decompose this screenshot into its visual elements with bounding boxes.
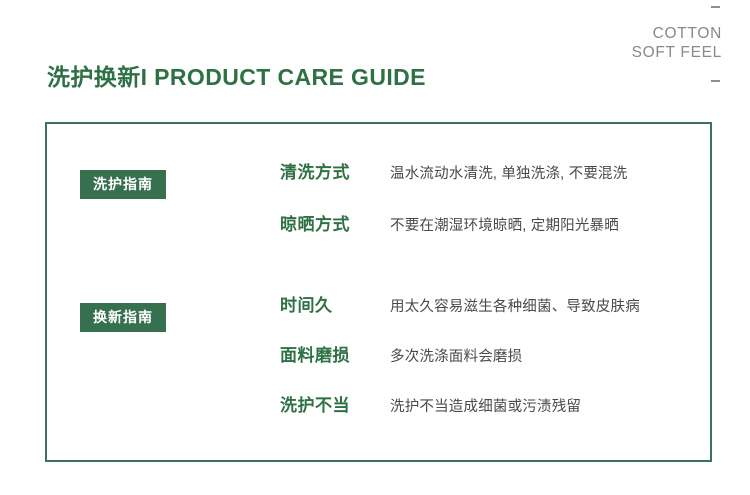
dash-icon-bottom	[711, 80, 720, 82]
care-row-description: 洗护不当造成细菌或污渍残留	[390, 395, 581, 416]
care-row: 晾晒方式 不要在潮湿环境晾晒, 定期阳光暴晒	[280, 210, 702, 262]
section-badge-washing-care: 洗护指南	[80, 170, 166, 199]
care-row: 洗护不当 洗护不当造成细菌或污渍残留	[280, 391, 702, 441]
care-row: 面料磨损 多次洗涤面料会磨损	[280, 341, 702, 391]
section-rows-washing-care: 清洗方式 温水流动水清洗, 单独洗涤, 不要混洗 晾晒方式 不要在潮湿环境晾晒,…	[280, 158, 702, 262]
care-row-description: 用太久容易滋生各种细菌、导致皮肤病	[390, 295, 640, 316]
care-row-label: 洗护不当	[280, 391, 390, 416]
brand-tagline-block: COTTON SOFT FEEL	[592, 6, 722, 82]
care-row-label: 面料磨损	[280, 341, 390, 366]
dash-icon-top	[711, 6, 720, 8]
brand-line-cotton: COTTON	[592, 24, 722, 43]
care-row-description: 温水流动水清洗, 单独洗涤, 不要混洗	[390, 162, 627, 183]
care-guide-box: 洗护指南 清洗方式 温水流动水清洗, 单独洗涤, 不要混洗 晾晒方式 不要在潮湿…	[45, 122, 712, 462]
section-rows-replacement-guide: 时间久 用太久容易滋生各种细菌、导致皮肤病 面料磨损 多次洗涤面料会磨损 洗护不…	[280, 291, 702, 441]
care-row: 时间久 用太久容易滋生各种细菌、导致皮肤病	[280, 291, 702, 341]
brand-line-soft-feel: SOFT FEEL	[592, 43, 722, 62]
product-care-guide-page: COTTON SOFT FEEL 洗护换新I PRODUCT CARE GUID…	[0, 0, 750, 495]
care-row-description: 不要在潮湿环境晾晒, 定期阳光暴晒	[390, 214, 619, 235]
page-title: 洗护换新I PRODUCT CARE GUIDE	[47, 58, 426, 92]
care-row-description: 多次洗涤面料会磨损	[390, 345, 522, 366]
section-badge-replacement-guide: 换新指南	[80, 303, 166, 332]
care-row: 清洗方式 温水流动水清洗, 单独洗涤, 不要混洗	[280, 158, 702, 210]
care-row-label: 时间久	[280, 291, 390, 316]
care-row-label: 晾晒方式	[280, 210, 390, 235]
care-row-label: 清洗方式	[280, 158, 390, 183]
